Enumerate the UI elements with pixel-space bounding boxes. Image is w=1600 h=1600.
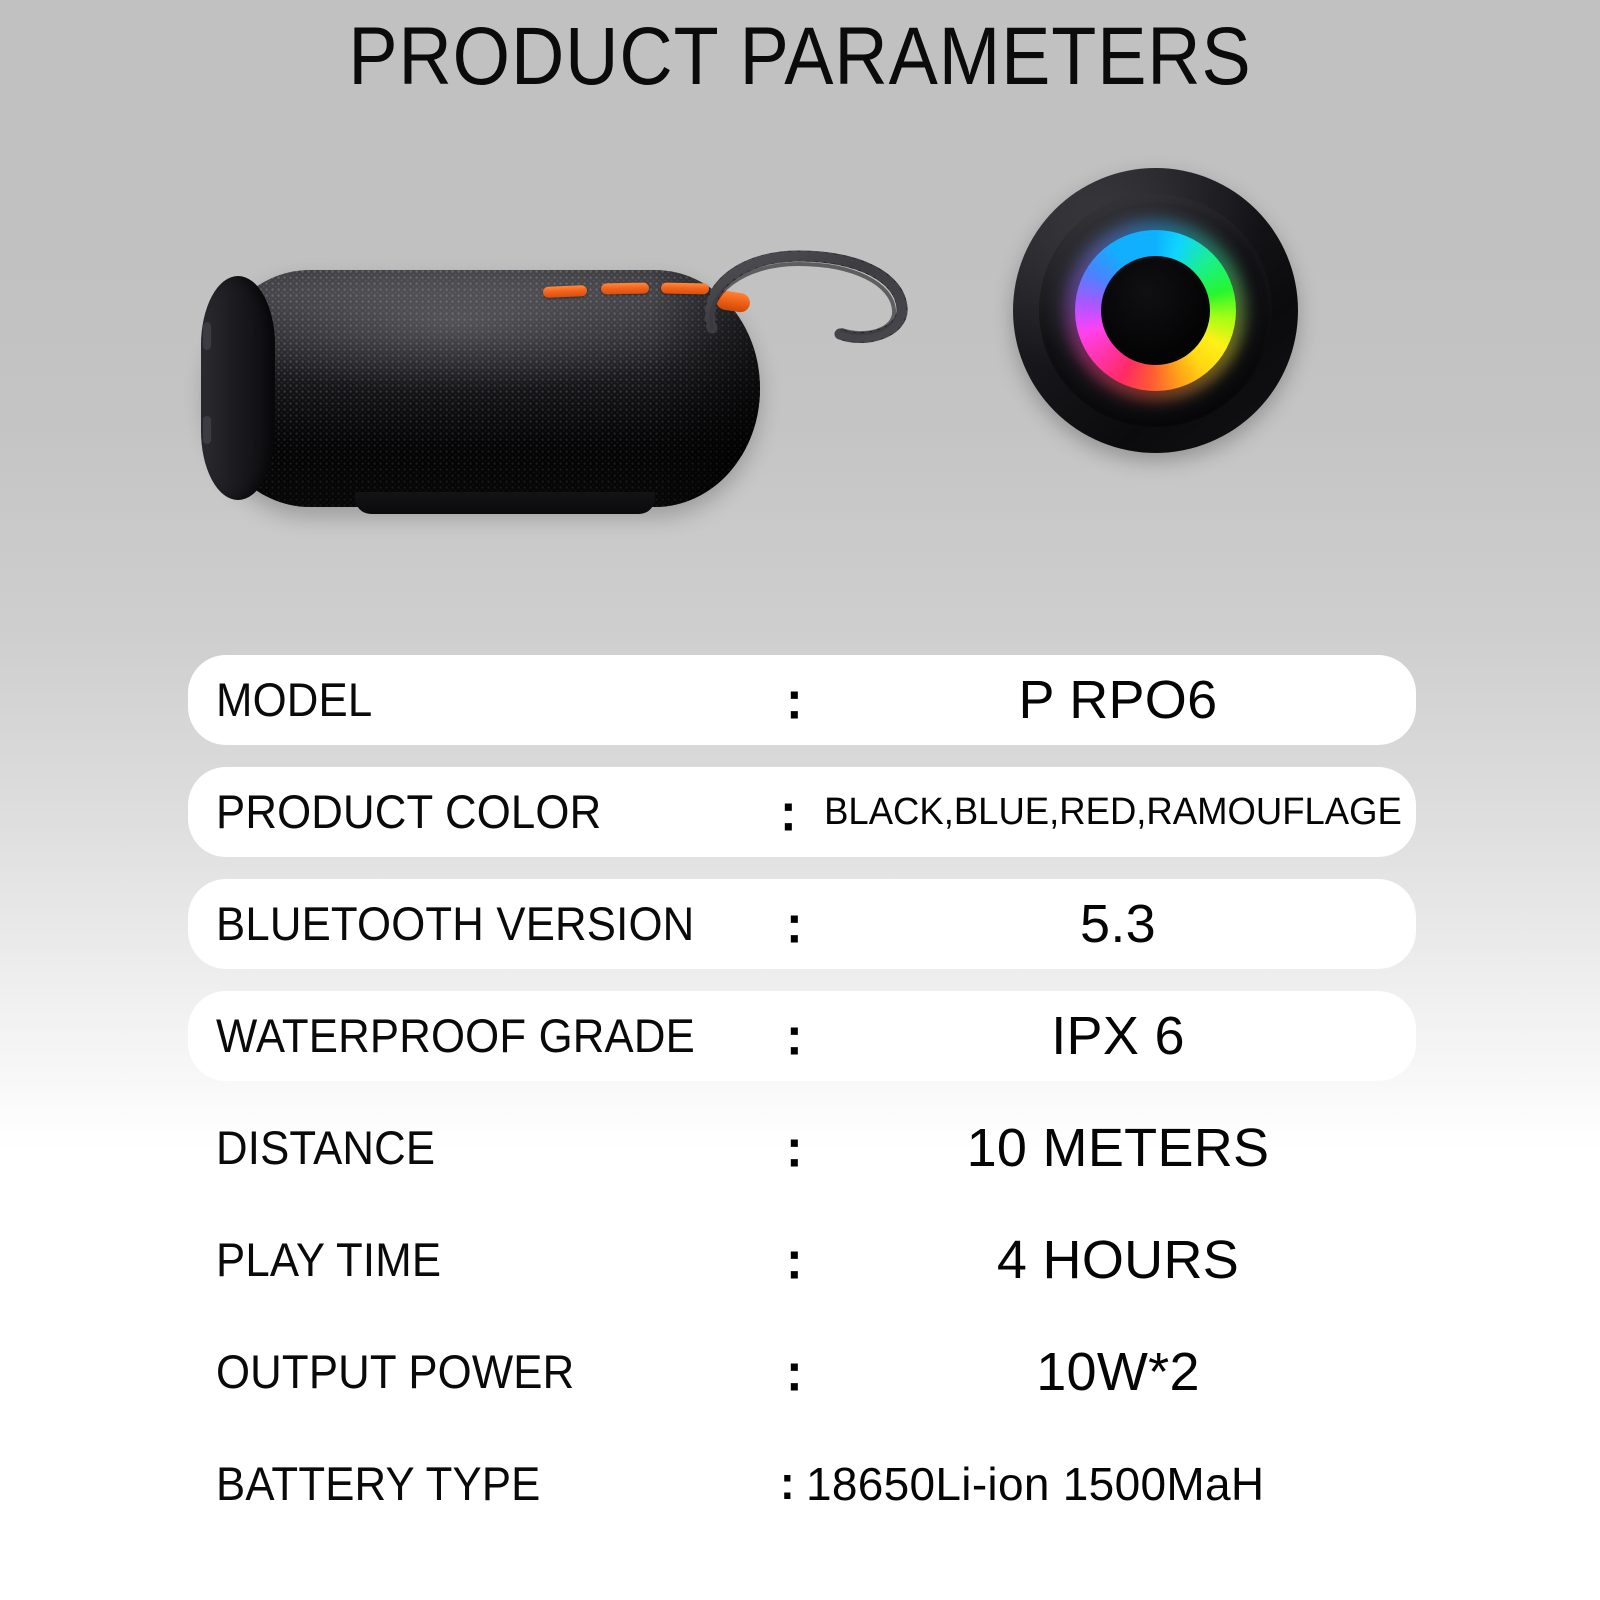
specifications-table: MODEL : P RPO6 PRODUCT COLOR : BLACK,BLU… [188,655,1416,1551]
spec-separator: : [786,1345,803,1399]
spec-value: 4 HOURS [828,1232,1408,1288]
spec-separator: : [786,673,803,727]
spec-row-battery-type: BATTERY TYPE : 18650Li-ion 1500MaH [188,1439,1416,1529]
speaker-carry-strap [690,250,940,370]
spec-row-output-power: OUTPUT POWER : 10W*2 [188,1327,1416,1417]
spec-label: WATERPROOF GRADE [216,1011,695,1061]
spec-value: 10W*2 [828,1344,1408,1400]
speaker-button-1 [543,285,587,298]
product-image-area: 22cm 9.9cm [0,150,1600,590]
speaker-left-endcap [201,276,275,500]
spec-value: BLACK,BLUE,RED,RAMOUFLAGE [824,784,1404,840]
spec-value: 5.3 [828,896,1408,952]
spec-separator: : [780,1457,795,1511]
spec-row-product-color: PRODUCT COLOR : BLACK,BLUE,RED,RAMOUFLAG… [188,767,1416,857]
spec-label: DISTANCE [216,1123,435,1173]
spec-label: OUTPUT POWER [216,1347,574,1397]
spec-label: MODEL [216,675,372,725]
product-parameters-page: PRODUCT PARAMETERS [0,0,1600,1600]
spec-value: 18650Li-ion 1500MaH [806,1456,1416,1512]
spec-label: PLAY TIME [216,1235,441,1285]
spec-row-bluetooth-version: BLUETOOTH VERSION : 5.3 [188,879,1416,969]
spec-separator: : [786,1121,803,1175]
speaker-button-2 [601,283,649,295]
speaker-bottom-rail [355,492,655,514]
spec-separator: : [786,897,803,951]
spec-value: P RPO6 [828,672,1408,728]
spec-row-waterproof-grade: WATERPROOF GRADE : IPX 6 [188,991,1416,1081]
spec-label: PRODUCT COLOR [216,787,601,837]
spec-separator: : [786,1233,803,1287]
spec-row-play-time: PLAY TIME : 4 HOURS [188,1215,1416,1305]
spec-separator: : [786,1009,803,1063]
spec-label: BATTERY TYPE [216,1459,541,1509]
speaker-end-view-image [1013,168,1298,453]
spec-row-model: MODEL : P RPO6 [188,655,1416,745]
speaker-body [205,270,760,507]
page-title: PRODUCT PARAMETERS [80,12,1520,102]
spec-separator: : [780,785,797,839]
spec-label: BLUETOOTH VERSION [216,899,694,949]
spec-value: 10 METERS [828,1120,1408,1176]
spec-row-distance: DISTANCE : 10 METERS [188,1103,1416,1193]
speaker-side-view-image [205,270,760,520]
spec-value: IPX 6 [828,1008,1408,1064]
speaker-driver [1101,256,1210,365]
